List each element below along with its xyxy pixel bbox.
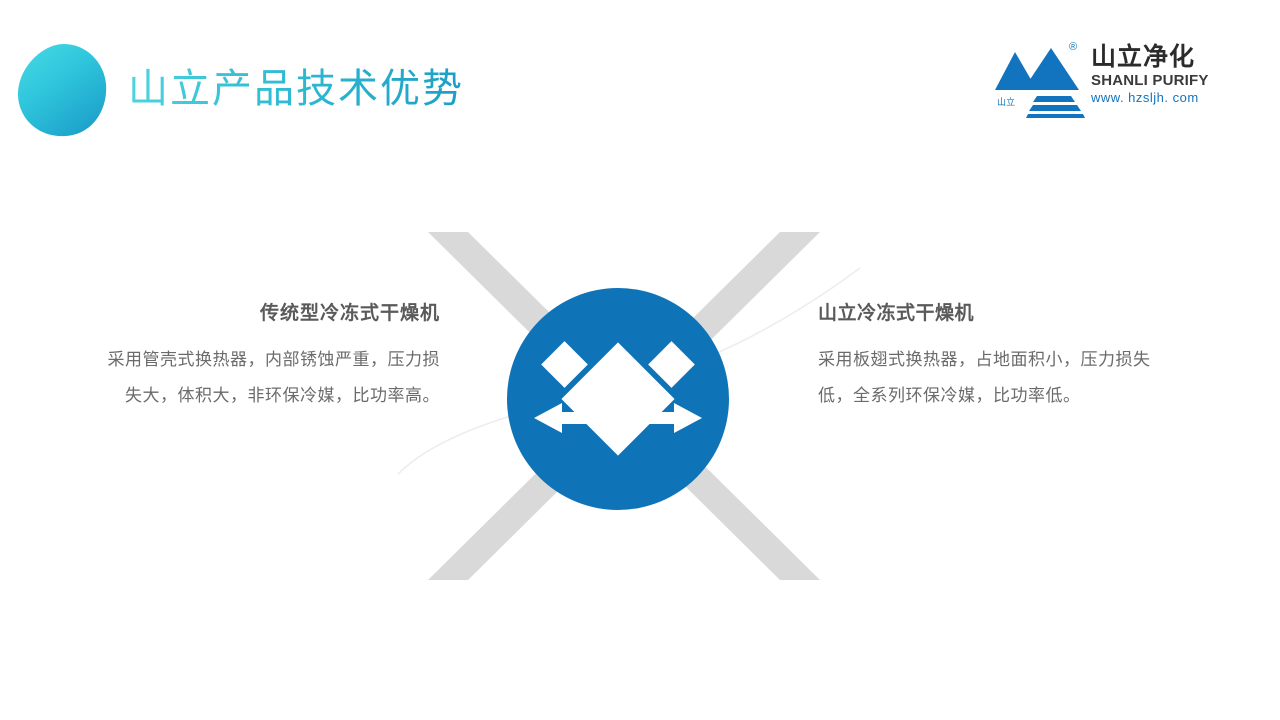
logo-company-name-en: SHANLI PURIFY [1091,72,1221,90]
comparison-column-traditional: 传统型冷冻式干燥机 采用管壳式换热器，内部锈蚀严重，压力损失大，体积大，非环保冷… [92,300,440,414]
header-decor-blob [16,42,108,138]
comparison-column-shanli: 山立冷冻式干燥机 采用板翅式换热器，占地面积小，压力损失低，全系列环保冷媒，比功… [818,300,1166,414]
logo-website-url[interactable]: www. hzsljh. com [1091,90,1221,106]
registered-trademark-icon: ® [1069,42,1077,53]
column-body-shanli: 采用板翅式换热器，占地面积小，压力损失低，全系列环保冷媒，比功率低。 [818,342,1166,414]
column-body-traditional: 采用管壳式换热器，内部锈蚀严重，压力损失大，体积大，非环保冷媒，比功率高。 [92,342,440,414]
column-heading-traditional: 传统型冷冻式干燥机 [92,300,440,326]
diamond-expand-arrows-icon [534,341,702,455]
logo-text-block: 山立净化 SHANLI PURIFY www. hzsljh. com [1091,42,1221,106]
column-heading-shanli: 山立冷冻式干燥机 [818,300,1166,326]
slide-canvas: 山立产品技术优势 山立 ® 山立净化 SHANLI PURIFY www. hz… [0,0,1280,720]
logo-company-name-cn: 山立净化 [1091,42,1221,72]
logo-mark-label: 山立 [997,98,1015,108]
page-title: 山立产品技术优势 [128,62,464,116]
cross-decoration [428,232,820,580]
company-logo[interactable]: 山立 ® 山立净化 SHANLI PURIFY www. hzsljh. com [993,40,1218,122]
decorative-arc [398,268,860,474]
center-circle [507,288,729,510]
